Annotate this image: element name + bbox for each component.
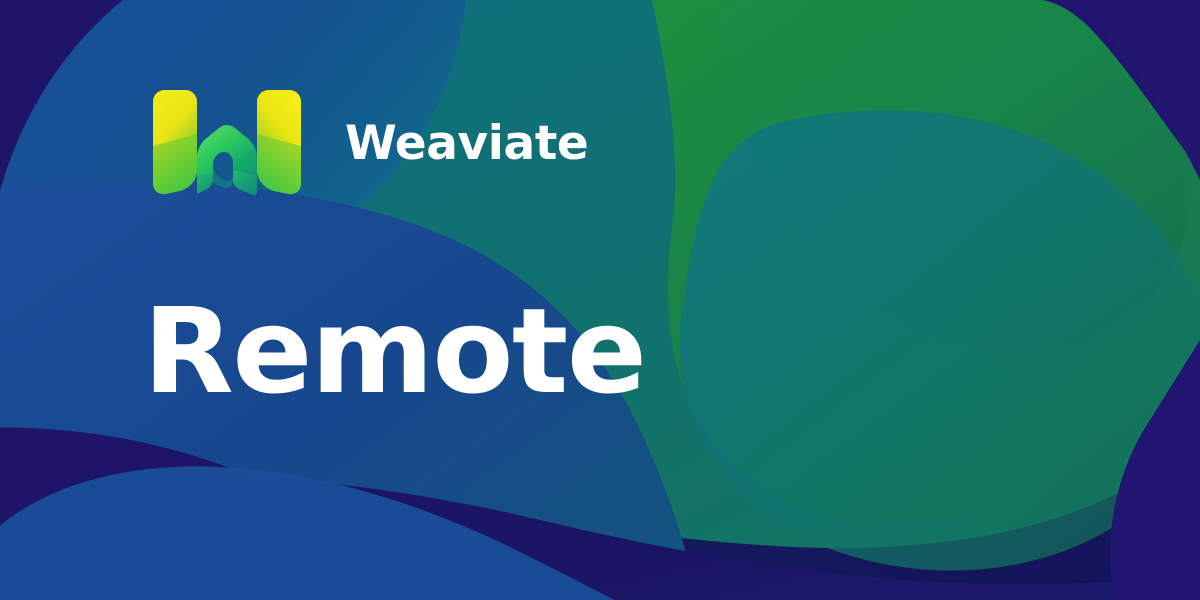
weaviate-wordmark: Weaviate	[345, 120, 588, 167]
page-title: Remote	[143, 292, 645, 410]
weaviate-w-logo-icon	[143, 84, 311, 198]
brand-lockup: Weaviate	[143, 84, 588, 198]
weaviate-social-card: Weaviate Remote	[0, 0, 1200, 600]
